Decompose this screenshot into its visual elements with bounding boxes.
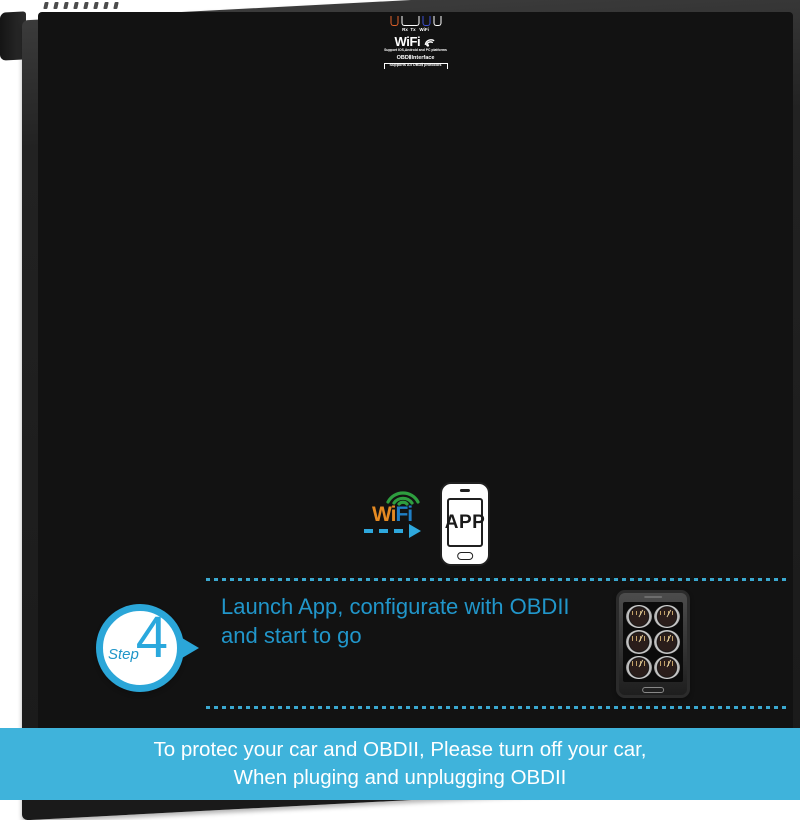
step-4-number: 4 bbox=[136, 609, 168, 667]
step-4-badge[interactable]: 4 Step bbox=[96, 604, 184, 692]
step3-led-sublabels: Rx Tx WiFi bbox=[38, 27, 793, 32]
step3-obd-device: Rx Tx WiFi WiFi Support IOS,Android and … bbox=[0, 0, 126, 72]
app-phone-illustration: APP bbox=[440, 482, 490, 566]
gauge-item bbox=[626, 605, 652, 628]
wifi-logo-wi: Wi bbox=[372, 503, 395, 526]
connection-arrow bbox=[364, 524, 421, 538]
step-4-heading-line2: and start to go bbox=[221, 623, 570, 649]
step-4-pointer bbox=[177, 635, 199, 661]
app-screen-text: APP bbox=[445, 512, 486, 534]
step3-device-support-line: Support IOS,Android and PC platforms bbox=[38, 48, 793, 52]
wifi-logo-fi: Fi bbox=[395, 503, 412, 526]
gauge-dashboard-phone bbox=[616, 590, 690, 698]
gauge-item bbox=[654, 630, 680, 653]
wifi-icon bbox=[423, 37, 436, 47]
step3-device-interface-line: OBDⅡInterface bbox=[38, 55, 793, 61]
divider-3 bbox=[206, 578, 790, 581]
wifi-logo: WiFi bbox=[372, 484, 434, 528]
gauge-item bbox=[654, 605, 680, 628]
gauge-item bbox=[654, 656, 680, 679]
gauge-grid bbox=[623, 602, 683, 682]
footer-line-1: To protec your car and OBDII, Please tur… bbox=[153, 736, 646, 764]
step-4-label: Step bbox=[108, 646, 139, 663]
step3-device-protocols-line: Supporls All OBDⅡ protocols bbox=[38, 62, 793, 67]
footer-line-2: When pluging and unplugging OBDII bbox=[234, 764, 567, 792]
footer-warning-band: To protec your car and OBDII, Please tur… bbox=[0, 728, 800, 800]
step-4-heading-line1: Launch App, configurate with OBDII bbox=[221, 594, 570, 620]
step3-led-panel bbox=[390, 16, 441, 26]
step3-device-ribs bbox=[44, 2, 120, 9]
divider-4 bbox=[206, 706, 790, 709]
gauge-item bbox=[626, 630, 652, 653]
gauge-item bbox=[626, 656, 652, 679]
step3-device-brand: WiFi bbox=[38, 34, 793, 49]
